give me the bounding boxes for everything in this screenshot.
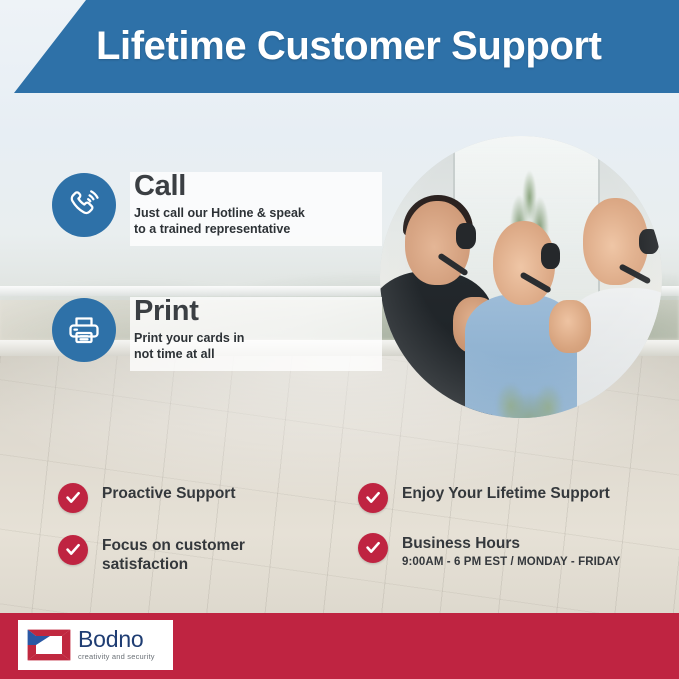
feature-card-description: Print your cards in not time at all (134, 331, 244, 362)
feature-card-print[interactable]: Print Print your cards in not time at al… (52, 297, 244, 362)
header-banner: Lifetime Customer Support (0, 0, 679, 93)
feature-card-text: Call Just call our Hotline & speak to a … (134, 172, 305, 237)
checklist-item-body: Focus on customer satisfaction (102, 535, 245, 575)
check-circle-icon (358, 483, 388, 513)
checklist-item: Business Hours 9:00AM - 6 PM EST / MONDA… (358, 533, 620, 570)
check-circle-icon (58, 535, 88, 565)
feature-card-call[interactable]: Call Just call our Hotline & speak to a … (52, 172, 305, 237)
feature-card-title: Call (134, 172, 305, 201)
brand-logo[interactable]: Bodno creativity and security (18, 620, 173, 670)
checklist-item-body: Enjoy Your Lifetime Support (402, 483, 610, 504)
printer-icon (52, 298, 116, 362)
checklist-item-label: Business Hours (402, 535, 620, 554)
checklist-item-body: Business Hours 9:00AM - 6 PM EST / MONDA… (402, 533, 620, 570)
phone-icon (52, 173, 116, 237)
checklist-item-label: Focus on customer satisfaction (102, 537, 245, 575)
check-circle-icon (358, 533, 388, 563)
check-circle-icon (58, 483, 88, 513)
bodno-card-logo-icon (26, 628, 72, 662)
checklist-item: Proactive Support (58, 483, 236, 513)
footer-bar: Bodno creativity and security (0, 613, 679, 679)
checklist-item: Focus on customer satisfaction (58, 535, 245, 575)
photo-vignette (380, 136, 662, 418)
feature-card-description: Just call our Hotline & speak to a train… (134, 206, 305, 237)
checklist-item-body: Proactive Support (102, 483, 236, 504)
page-title: Lifetime Customer Support (96, 24, 602, 69)
brand-tagline: creativity and security (78, 652, 155, 661)
checklist-item-subtext: 9:00AM - 6 PM EST / MONDAY - FRIDAY (402, 556, 620, 570)
brand-logo-text: Bodno creativity and security (78, 629, 155, 661)
brand-name: Bodno (78, 629, 155, 651)
checklist-item-label: Enjoy Your Lifetime Support (402, 485, 610, 504)
feature-card-title: Print (134, 297, 244, 326)
checklist-item: Enjoy Your Lifetime Support (358, 483, 610, 513)
checklist-item-label: Proactive Support (102, 485, 236, 504)
feature-card-text: Print Print your cards in not time at al… (134, 297, 244, 362)
support-team-photo (380, 136, 662, 418)
marketing-poster: Lifetime Customer Support (0, 0, 679, 679)
